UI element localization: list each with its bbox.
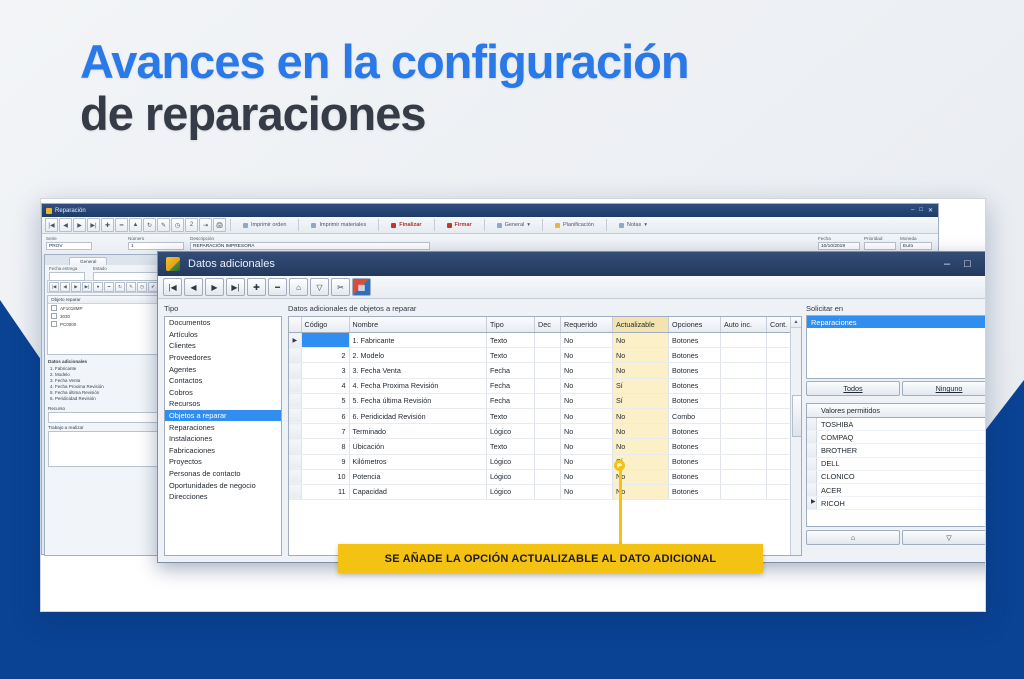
todos-button[interactable]: Todos [806,381,900,396]
cell-auto-inc[interactable] [721,393,767,408]
table-row[interactable]: 8UbicaciónTextoNoNoBotones [289,439,801,454]
app-icon [46,208,52,214]
refresh-icon[interactable]: ↻ [143,218,156,232]
right-panel: Solicitar en Reparaciones Todos Ninguno … [806,304,986,556]
page-title-line-2: de reparaciones [80,90,840,138]
previous-record-button[interactable]: ◀ [184,278,203,296]
cell-tipo[interactable]: Texto [487,439,535,454]
cell-nombre[interactable]: Capacidad [349,484,487,499]
action-label: Imprimir materiales [319,222,366,228]
solicitar-caption: Solicitar en [806,304,986,313]
cell-nombre[interactable]: 3. Fecha Venta [349,363,487,378]
cell-actualizable[interactable]: No [613,348,669,363]
cell-auto-inc[interactable] [721,424,767,439]
finalize-icon [391,223,396,228]
clock-icon[interactable]: ◷ [137,282,147,292]
cell-auto-inc[interactable] [721,363,767,378]
row-marker[interactable] [289,408,301,423]
add-record-button[interactable]: ✚ [101,218,114,232]
table-body[interactable]: ▶11. FabricanteTextoNoNoBotones22. Model… [289,333,801,500]
cell-actualizable[interactable]: Sí [613,378,669,393]
cell-requerido[interactable]: No [561,484,613,499]
cell-nombre[interactable]: Potencia [349,469,487,484]
export-button[interactable]: ⌂ [806,530,900,545]
row-marker[interactable] [289,393,301,408]
tipo-item-selected[interactable]: Objetos a reparar [165,410,281,422]
row-marker[interactable] [289,378,301,393]
table-row[interactable]: 55. Fecha última RevisiónFechaNoSíBotone… [289,393,801,408]
refresh-icon[interactable]: ↻ [115,282,125,292]
cell-requerido[interactable]: No [561,333,613,348]
toolbar-separator [434,219,435,231]
print-icon [311,223,316,228]
cell-requerido[interactable]: No [561,469,613,484]
row-gutter [807,458,817,470]
checkbox-icon[interactable] [51,313,57,319]
list-item[interactable]: 6. Peridicidad Revisión [45,395,173,401]
page-title: Avances en la configuración de reparacio… [80,38,840,138]
cell-tipo[interactable]: Fecha [487,363,535,378]
numero-input[interactable]: 1 [128,242,184,250]
tipo-item[interactable]: Instalaciones [165,433,281,445]
cell-opciones[interactable]: Botones [669,378,721,393]
fecha-entrega-input[interactable] [49,272,85,281]
list-item-label: AF1018MP [60,306,83,311]
cell-opciones[interactable]: Botones [669,393,721,408]
edit-icon[interactable]: ✎ [126,282,136,292]
list-item-label: ACER [821,486,842,495]
cell-actualizable[interactable]: No [613,439,669,454]
reparacion-toolbar[interactable]: |◀ ◀ ▶ ▶| ✚ ━ ▲ ↻ ✎ ◷ 2 ⇥ 🖨 Imprimir ord… [42,217,938,234]
row-marker[interactable] [289,348,301,363]
row-gutter [807,418,817,430]
dialog-datos-adicionales[interactable]: Datos adicionales – □ ✕ |◀ ◀ ▶ ▶| ✚ ━ ⌂ … [157,251,986,563]
cell-auto-inc[interactable] [721,378,767,393]
table-row[interactable]: 44. Fecha Proxima RevisiónFechaNoSíBoton… [289,378,801,393]
valores-permitidos-list[interactable]: Valores permitidos ▲ TOSHIBACOMPAQBROTHE… [806,403,986,527]
list-item-label: CLONICO [821,472,855,481]
table-header-row: Código Nombre Tipo Dec Requerido Actuali… [289,317,801,333]
plan-icon [555,223,560,228]
trabajo-textarea[interactable] [48,431,170,467]
grid-container[interactable]: Código Nombre Tipo Dec Requerido Actuali… [288,316,802,556]
cell-requerido[interactable]: No [561,378,613,393]
trabajo-caption: Trabajo a realizar [45,423,173,431]
column-header-opciones[interactable]: Opciones [669,317,721,333]
tipo-item[interactable]: Recursos [165,398,281,410]
solicitar-item-selected[interactable]: Reparaciones [807,316,986,328]
toolbar-separator [378,219,379,231]
minimize-icon[interactable]: – [944,259,950,269]
tab-icon[interactable]: ⇥ [199,218,212,232]
grid-vertical-scrollbar[interactable]: ▲ [790,317,801,555]
cell-codigo[interactable]: 6 [301,408,349,423]
solicitar-list[interactable]: Reparaciones [806,315,986,379]
cell-requerido[interactable]: No [561,348,613,363]
list-item[interactable]: COMPAQ [807,431,986,444]
cell-opciones[interactable]: Botones [669,424,721,439]
fecha-entrega-label: Fecha entrega [49,266,77,271]
tipo-item[interactable]: Oportunidades de negocio [165,479,281,491]
cell-dec[interactable] [535,439,561,454]
tipo-item[interactable]: Artículos [165,329,281,341]
row-gutter [807,471,817,483]
action-label: Imprimir orden [251,222,286,228]
objeto-reparar-group[interactable]: Objeto reparar AF1018MP 3030 PC0000 [47,295,171,355]
chevron-down-icon[interactable]: ▾ [527,222,530,228]
cell-auto-inc[interactable] [721,454,767,469]
toolbar-separator [606,219,607,231]
cell-dec[interactable] [535,348,561,363]
dialog-window-buttons[interactable]: – □ ✕ [944,259,986,269]
tools-button[interactable]: ✂ [331,278,350,296]
cell-requerido[interactable]: No [561,408,613,423]
filter-button[interactable]: ▽ [310,278,329,296]
excel-button[interactable]: ▦ [352,278,371,296]
next-record-button[interactable]: ▶ [205,278,224,296]
todos-button-label: Todos [843,384,862,393]
tipo-item[interactable]: Fabricaciones [165,445,281,457]
action-imprimir-orden[interactable]: Imprimir orden [235,219,294,232]
page-title-line-1: Avances en la configuración [80,38,840,86]
cell-dec[interactable] [535,333,561,348]
tipo-item[interactable]: Clientes [165,340,281,352]
cell-opciones[interactable]: Botones [669,333,721,348]
cell-dec[interactable] [535,363,561,378]
recurso-input[interactable] [48,412,170,423]
cell-nombre[interactable]: Terminado [349,424,487,439]
cell-opciones[interactable]: Botones [669,469,721,484]
valores-header[interactable]: Valores permitidos ▲ [807,404,986,418]
cell-codigo[interactable]: 5 [301,393,349,408]
last-record-button[interactable]: ▶| [226,278,245,296]
cell-requerido[interactable]: No [561,363,613,378]
cell-dec[interactable] [535,378,561,393]
tipo-item[interactable]: Cobros [165,387,281,399]
cell-auto-inc[interactable] [721,408,767,423]
cell-dec[interactable] [535,469,561,484]
cell-nombre[interactable]: 5. Fecha última Revisión [349,393,487,408]
export-button[interactable]: ⌂ [289,278,308,296]
column-header-nombre[interactable]: Nombre [349,317,487,333]
list-item[interactable]: ▶RICOH [807,497,986,510]
list-item[interactable]: TOSHIBA [807,418,986,431]
tipo-item[interactable]: Reparaciones [165,421,281,433]
cell-auto-inc[interactable] [721,439,767,454]
column-header-tipo[interactable]: Tipo [487,317,535,333]
cell-actualizable[interactable]: Sí [613,393,669,408]
table-row[interactable]: 10PotenciaLógicoNoNoBotones [289,469,801,484]
cell-tipo[interactable]: Texto [487,408,535,423]
column-header-actualizable[interactable]: Actualizable [613,317,669,333]
tipo-list[interactable]: Documentos Artículos Clientes Proveedore… [164,316,282,556]
cell-tipo[interactable]: Fecha [487,393,535,408]
cell-tipo[interactable]: Lógico [487,469,535,484]
cell-auto-inc[interactable] [721,333,767,348]
action-label: General [505,222,525,228]
reparacion-window-buttons[interactable]: – □ ✕ [911,207,934,214]
recurso-caption: Recurso [45,404,173,412]
first-record-button[interactable]: |◀ [163,278,182,296]
fecha-input[interactable]: 10/10/2019 [818,242,860,250]
field-moneda[interactable]: Moneda Euro [900,236,932,250]
chevron-down-icon[interactable]: ▾ [644,222,647,228]
cell-opciones[interactable]: Botones [669,348,721,363]
list-item-label: 3030 [60,314,70,319]
row-gutter [807,431,817,443]
tipo-item[interactable]: Documentos [165,317,281,329]
scroll-up-icon[interactable]: ▲ [791,317,801,328]
ninguno-button-label: Ninguno [936,384,963,393]
cell-auto-inc[interactable] [721,469,767,484]
row-marker[interactable] [289,424,301,439]
add-record-button[interactable]: ● [93,282,103,292]
list-item-label: PC0000 [60,322,76,327]
cell-auto-inc[interactable] [721,348,767,363]
list-item[interactable]: DELL [807,458,986,471]
action-firmar[interactable]: Firmar [439,219,480,232]
first-record-button[interactable]: |◀ [45,218,58,232]
cell-codigo[interactable]: 7 [301,424,349,439]
checkbox-icon[interactable] [51,321,57,327]
action-notas[interactable]: Notas ▾ [611,219,655,232]
tipo-item[interactable]: Proveedores [165,352,281,364]
list-item-label: DELL [821,459,840,468]
column-header-cont-label: Cont. [770,320,787,329]
cell-dec[interactable] [535,393,561,408]
dialog-title: Datos adicionales [188,258,275,270]
moneda-select[interactable]: Euro [900,242,932,250]
notes-icon [619,223,624,228]
cell-requerido[interactable]: No [561,393,613,408]
cell-actualizable[interactable]: No [613,424,669,439]
toolbar-separator [298,219,299,231]
callout-banner: SE AÑADE LA OPCIÓN ACTUALIZABLE AL DATO … [338,544,763,573]
cell-requerido[interactable]: No [561,454,613,469]
valores-vertical-scrollbar[interactable] [985,404,986,526]
cell-tipo[interactable]: Lógico [487,454,535,469]
list-item[interactable]: AF1018MP [48,304,170,312]
callout-connector-line [619,466,622,546]
cell-opciones[interactable]: Botones [669,454,721,469]
cell-tipo[interactable]: Lógico [487,484,535,499]
table-row[interactable]: ▶11. FabricanteTextoNoNoBotones [289,333,801,348]
print-icon[interactable]: 🖨 [213,218,226,232]
window-reparacion-detail[interactable]: General Fecha entrega Estado |◀ ◀ ▶ ▶| ●… [44,254,174,556]
cell-tipo[interactable]: Texto [487,333,535,348]
tipo-item[interactable]: Personas de contacto [165,468,281,480]
column-header-auto-inc[interactable]: Auto inc. [721,317,767,333]
dialog-toolbar[interactable]: |◀ ◀ ▶ ▶| ✚ ━ ⌂ ▽ ✂ ▦ [158,276,986,299]
ninguno-button[interactable]: Ninguno [902,381,986,396]
cell-codigo[interactable]: 4 [301,378,349,393]
grid-caption: Datos adicionales de objetos a reparar [288,304,802,313]
delete-record-button[interactable]: ━ [268,278,287,296]
edit-icon[interactable]: ✎ [157,218,170,232]
cell-nombre[interactable]: Kilómetros [349,454,487,469]
cell-codigo[interactable]: 10 [301,469,349,484]
tipo-item[interactable]: Contactos [165,375,281,387]
list-item-label: TOSHIBA [821,420,853,429]
reparacion-titlebar[interactable]: Reparación – □ ✕ [42,204,938,217]
field-prioridad[interactable]: Prioridad [864,236,896,250]
toolbar-separator [484,219,485,231]
action-label: Notas [627,222,641,228]
cell-opciones[interactable]: Botones [669,439,721,454]
estado-label: Estado [93,266,107,271]
clock-icon[interactable]: ◷ [171,218,184,232]
page-number-button[interactable]: 2 [185,218,198,232]
close-icon[interactable]: ✕ [985,259,986,269]
datos-adicionales-table[interactable]: Código Nombre Tipo Dec Requerido Actuali… [289,317,801,500]
datos-adicionales-caption: Datos adicionales [45,357,173,365]
tipo-item[interactable]: Proyectos [165,456,281,468]
cell-auto-inc[interactable] [721,484,767,499]
tipo-panel: Tipo Documentos Artículos Clientes Prove… [164,304,282,556]
solicitar-buttons: Todos Ninguno [806,381,986,396]
list-item[interactable]: CLONICO [807,471,986,484]
cell-dec[interactable] [535,424,561,439]
cell-nombre[interactable]: 4. Fecha Proxima Revisión [349,378,487,393]
cell-opciones[interactable]: Botones [669,484,721,499]
field-descripcion[interactable]: Descripción REPARACIÓN IMPRESORA [190,236,430,250]
cell-codigo[interactable]: 11 [301,484,349,499]
valores-body[interactable]: TOSHIBACOMPAQBROTHERDELLCLONICOACER▶RICO… [807,418,986,510]
field-numero[interactable]: Número 1 [128,236,184,250]
previous-record-button[interactable]: ◀ [59,218,72,232]
close-icon[interactable]: ✕ [928,207,934,214]
cell-codigo[interactable]: 2 [301,348,349,363]
tab-general[interactable]: General [69,257,107,265]
delete-record-button[interactable]: ━ [115,218,128,232]
cell-tipo[interactable]: Lógico [487,424,535,439]
dialog-titlebar[interactable]: Datos adicionales – □ ✕ [158,252,986,276]
cell-requerido[interactable]: No [561,424,613,439]
maximize-icon[interactable]: □ [919,207,924,214]
table-row[interactable]: 7TerminadoLógicoNoNoBotones [289,424,801,439]
table-row[interactable]: 11CapacidadLógicoNoNoBotones [289,484,801,499]
descripcion-input[interactable]: REPARACIÓN IMPRESORA [190,242,430,250]
prioridad-select[interactable] [864,242,896,250]
action-label: Firmar [455,222,472,228]
table-row[interactable]: 66. Peridicidad RevisiónTextoNoNoCombo [289,408,801,423]
row-marker[interactable] [289,484,301,499]
cell-dec[interactable] [535,408,561,423]
cell-dec[interactable] [535,484,561,499]
row-gutter [807,484,817,496]
cell-actualizable[interactable]: No [613,333,669,348]
field-fecha[interactable]: Fecha 10/10/2019 [818,236,860,250]
cell-requerido[interactable]: No [561,439,613,454]
cell-codigo[interactable]: 3 [301,363,349,378]
column-header-dec[interactable]: Dec [535,317,561,333]
cell-tipo[interactable]: Texto [487,348,535,363]
cell-tipo[interactable]: Fecha [487,378,535,393]
detail-tabs[interactable]: General [45,255,173,265]
valores-footer-buttons: ⌂ ▽ [806,530,986,545]
first-record-button[interactable]: |◀ [49,282,59,292]
field-serie[interactable]: Serie PROV [46,236,92,250]
next-record-button[interactable]: ▶ [71,282,81,292]
minimize-icon[interactable]: – [911,207,915,214]
checkbox-icon[interactable] [51,305,57,311]
detail-field-row: Fecha entrega Estado [45,265,173,279]
filter-button[interactable]: ▽ [902,530,986,545]
app-icon [166,257,180,271]
serie-input[interactable]: PROV [46,242,92,250]
cell-actualizable[interactable]: No [613,408,669,423]
column-header-requerido[interactable]: Requerido [561,317,613,333]
action-planificacion[interactable]: Planificación [547,219,602,232]
row-marker-header [289,317,301,333]
cell-actualizable[interactable]: No [613,363,669,378]
cell-codigo[interactable]: 8 [301,439,349,454]
up-button[interactable]: ▲ [129,218,142,232]
list-item-label: BROTHER [821,446,857,455]
scrollbar-thumb[interactable] [792,395,802,437]
list-item[interactable]: BROTHER [807,444,986,457]
general-icon [497,223,502,228]
add-record-button[interactable]: ✚ [247,278,266,296]
next-record-button[interactable]: ▶ [73,218,86,232]
list-item[interactable]: ACER [807,484,986,497]
column-header-codigo[interactable]: Código [301,317,349,333]
estado-input[interactable] [93,272,167,281]
cell-dec[interactable] [535,454,561,469]
reparacion-title: Reparación [55,208,86,214]
tipo-item[interactable]: Agentes [165,363,281,375]
tipo-item[interactable]: Direcciones [165,491,281,503]
action-general[interactable]: General ▾ [489,219,538,232]
cell-opciones[interactable]: Botones [669,363,721,378]
action-label: Finalizar [399,222,421,228]
table-row[interactable]: 33. Fecha VentaFechaNoNoBotones [289,363,801,378]
list-item[interactable]: 3030 [48,312,170,320]
cell-codigo[interactable]: 1 [301,333,349,348]
row-marker[interactable] [289,454,301,469]
maximize-icon[interactable]: □ [964,259,971,269]
cell-nombre[interactable]: 6. Peridicidad Revisión [349,408,487,423]
row-marker[interactable] [289,439,301,454]
previous-record-button[interactable]: ◀ [60,282,70,292]
table-row[interactable]: 22. ModeloTextoNoNoBotones [289,348,801,363]
delete-record-button[interactable]: ━ [104,282,114,292]
cell-codigo[interactable]: 9 [301,454,349,469]
row-marker[interactable] [289,469,301,484]
print-icon [243,223,248,228]
list-item-label: COMPAQ [821,433,853,442]
last-record-button[interactable]: ▶| [87,218,100,232]
detail-toolbar[interactable]: |◀ ◀ ▶ ▶| ● ━ ↻ ✎ ◷ ✔ [47,280,171,293]
cell-nombre[interactable]: 2. Modelo [349,348,487,363]
callout-text: SE AÑADE LA OPCIÓN ACTUALIZABLE AL DATO … [385,553,717,565]
cell-nombre[interactable]: 1. Fabricante [349,333,487,348]
action-finalizar[interactable]: Finalizar [383,219,429,232]
row-marker[interactable]: ▶ [289,333,301,348]
table-row[interactable]: 9KilómetrosLógicoNoSíBotones [289,454,801,469]
cell-opciones[interactable]: Combo [669,408,721,423]
action-imprimir-materiales[interactable]: Imprimir materiales [303,219,374,232]
cell-nombre[interactable]: Ubicación [349,439,487,454]
last-record-button[interactable]: ▶| [82,282,92,292]
list-item[interactable]: PC0000 [48,320,170,328]
action-label: Planificación [563,222,594,228]
row-marker[interactable] [289,363,301,378]
row-gutter [807,444,817,456]
toolbar-separator [542,219,543,231]
toolbar-separator [230,219,231,231]
dialog-body: Tipo Documentos Artículos Clientes Prove… [158,298,986,562]
